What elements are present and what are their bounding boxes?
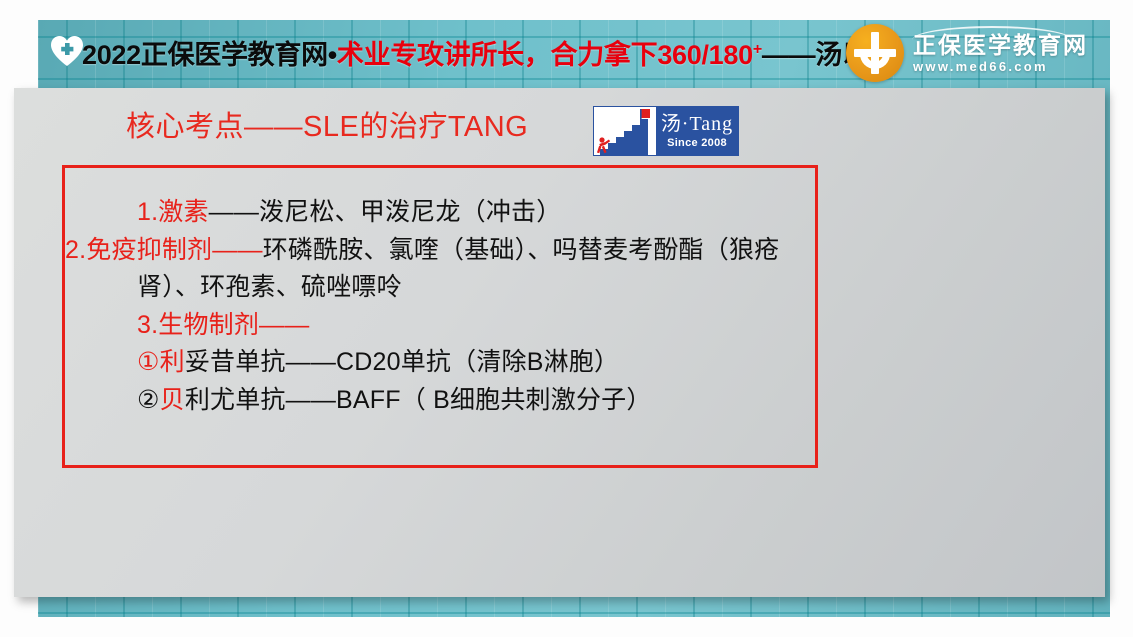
line-4-rest: 妥昔单抗——CD20单抗（清除B淋胞）	[185, 348, 619, 376]
brand-swoosh-decoration	[912, 26, 1072, 40]
line-3-red: 3.生物制剂——	[137, 311, 309, 339]
header-title-part1: 2022正保医学教育网•	[82, 40, 337, 70]
list-item: ①利妥昔单抗——CD20单抗（清除B淋胞）	[65, 344, 815, 382]
line-2-red: 2.免疫抑制剂——	[65, 236, 263, 264]
line-5-rest: 利尤单抗——BAFF（ B细胞共刺激分子）	[185, 386, 652, 414]
header-title: 2022正保医学教育网•术业专攻讲所长，合力拿下360/180+——汤以恒	[82, 33, 895, 72]
tang-since: Since 2008	[667, 138, 727, 149]
header-bar: 2022正保医学教育网•术业专攻讲所长，合力拿下360/180+——汤以恒 正保…	[38, 20, 1110, 88]
list-item: 1.激素——泼尼松、甲泼尼龙（冲击）	[65, 194, 815, 232]
list-item: 3.生物制剂——	[65, 307, 815, 345]
tang-brand-logo: 汤·Tang Since 2008	[593, 106, 739, 156]
line-5-red: 贝	[160, 386, 185, 414]
slide-root: 2022正保医学教育网•术业专攻讲所长，合力拿下360/180+——汤以恒 正保…	[0, 0, 1133, 637]
tang-name: 汤·Tang	[661, 114, 733, 134]
brand-url: www.med66.com	[913, 60, 1088, 73]
line-1-red: 1.激素	[137, 198, 209, 226]
line-4-red: ①利	[137, 348, 185, 376]
line-5-black-prefix: ②	[137, 386, 160, 414]
med66-cross-logo-icon	[846, 24, 904, 82]
list-item: ②贝利尤单抗——BAFF（ B细胞共刺激分子）	[65, 382, 815, 420]
list-item: 2.免疫抑制剂——环磷酰胺、氯喹（基础）、吗替麦考酚酯（狼疮肾）、环孢素、硫唑嘌…	[65, 232, 815, 307]
line-1-rest: ——泼尼松、甲泼尼龙（冲击）	[209, 198, 562, 226]
header-title-superscript: +	[753, 41, 762, 58]
page-title: 核心考点——SLE的治疗TANG	[126, 103, 528, 145]
header-title-red: 术业专攻讲所长，合力拿下360/180	[337, 40, 753, 70]
treatment-list: 1.激素——泼尼松、甲泼尼龙（冲击） 2.免疫抑制剂——环磷酰胺、氯喹（基础）、…	[65, 168, 815, 419]
heart-plus-icon	[50, 35, 84, 68]
brand-logo: 正保医学教育网 www.med66.com	[846, 24, 1088, 82]
highlight-box: 1.激素——泼尼松、甲泼尼龙（冲击） 2.免疫抑制剂——环磷酰胺、氯喹（基础）、…	[62, 165, 818, 468]
tang-stairs-runner-flag-icon	[594, 107, 656, 155]
tang-text-block: 汤·Tang Since 2008	[656, 107, 738, 155]
teal-gridline-bottom	[38, 612, 1110, 614]
brand-text-block: 正保医学教育网 www.med66.com	[913, 34, 1088, 73]
